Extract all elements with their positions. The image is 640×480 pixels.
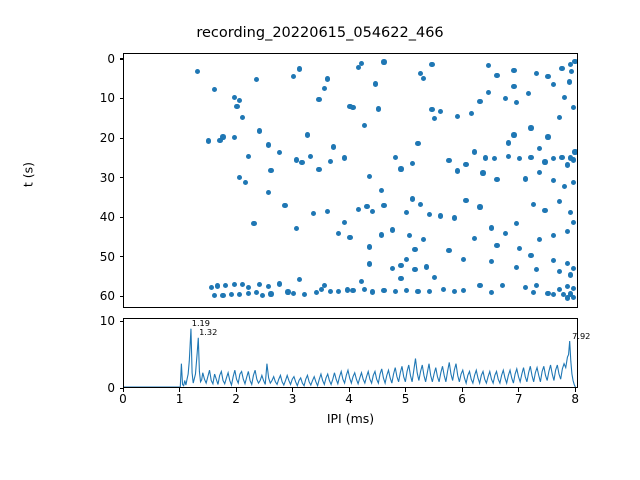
scatter-point [472, 149, 477, 154]
x-tick-mark [349, 388, 350, 392]
scatter-point [311, 211, 316, 216]
scatter-point [545, 74, 550, 79]
scatter-point [367, 244, 372, 249]
y-tick-label: 40 [77, 211, 115, 223]
scatter-point [390, 266, 395, 271]
scatter-point [412, 267, 417, 272]
scatter-point [432, 275, 437, 280]
scatter-plot-panel [123, 53, 578, 308]
x-tick-mark [179, 388, 180, 392]
scatter-point [534, 267, 539, 272]
scatter-point [565, 295, 570, 300]
scatter-point [314, 290, 319, 295]
hist-y-tick-label: 10 [77, 315, 115, 327]
scatter-point [494, 177, 499, 182]
scatter-point [322, 86, 327, 91]
scatter-point [557, 115, 562, 120]
scatter-point [557, 269, 562, 274]
scatter-point [308, 154, 313, 159]
scatter-point [562, 95, 567, 100]
scatter-point [297, 66, 302, 71]
scatter-point [350, 288, 355, 293]
y-tick-label: 30 [77, 172, 115, 184]
scatter-point [277, 281, 282, 286]
x-tick-label: 8 [562, 393, 588, 405]
scatter-point [291, 291, 296, 296]
scatter-point [528, 155, 533, 160]
histogram-trace [124, 319, 577, 387]
scatter-point [421, 237, 426, 242]
scatter-point [489, 225, 494, 230]
scatter-point [523, 176, 528, 181]
scatter-point [381, 288, 386, 293]
scatter-point [328, 159, 333, 164]
scatter-point [446, 248, 451, 253]
scatter-point [325, 209, 330, 214]
scatter-point [336, 289, 341, 294]
scatter-point [393, 155, 398, 160]
scatter-point [328, 289, 333, 294]
histogram-panel [123, 318, 578, 388]
scatter-point [234, 104, 239, 109]
scatter-point [342, 220, 347, 225]
scatter-point [483, 155, 488, 160]
scatter-point [438, 213, 443, 218]
scatter-point [537, 146, 542, 151]
scatter-point [294, 226, 299, 231]
scatter-point [571, 220, 576, 225]
scatter-point [232, 135, 237, 140]
scatter-point [370, 289, 375, 294]
scatter-point [557, 287, 562, 292]
scatter-point [511, 132, 516, 137]
scatter-point [427, 212, 432, 217]
scatter-point [251, 221, 256, 226]
scatter-point [410, 196, 415, 201]
x-tick-label: 0 [110, 393, 136, 405]
scatter-point [486, 63, 491, 68]
y-tick-label: 0 [77, 53, 115, 65]
x-axis-label: IPI (ms) [123, 411, 578, 426]
scatter-point [469, 111, 474, 116]
scatter-point [452, 215, 457, 220]
scatter-point [517, 246, 522, 251]
scatter-point [359, 279, 364, 284]
scatter-point [237, 292, 242, 297]
scatter-point [319, 287, 324, 292]
scatter-point [506, 154, 511, 159]
scatter-point [257, 128, 262, 133]
peak-annotation: 1.32 [199, 328, 217, 337]
scatter-point [376, 106, 381, 111]
scatter-point [446, 158, 451, 163]
scatter-point [441, 287, 446, 292]
scatter-point [206, 138, 211, 143]
scatter-point [463, 162, 468, 167]
scatter-point [282, 203, 287, 208]
scatter-point [542, 159, 547, 164]
scatter-point [557, 199, 562, 204]
scatter-point [254, 77, 259, 82]
scatter-point [551, 292, 556, 297]
scatter-point [398, 263, 403, 268]
scatter-point [528, 253, 533, 258]
scatter-point [240, 115, 245, 120]
scatter-point [571, 105, 576, 110]
scatter-point [565, 284, 570, 289]
scatter-point [455, 168, 460, 173]
scatter-point [511, 84, 516, 89]
scatter-point [503, 231, 508, 236]
scatter-point [260, 293, 265, 298]
matplotlib-figure: recording_20220615_054622_466 0102030405… [0, 0, 640, 480]
scatter-point [223, 283, 228, 288]
y-tick-label: 20 [77, 132, 115, 144]
scatter-point [571, 286, 576, 291]
scatter-point [316, 167, 321, 172]
scatter-point [568, 210, 573, 215]
scatter-point [571, 180, 576, 185]
scatter-point [212, 87, 217, 92]
peak-annotation: 7.92 [572, 332, 590, 341]
scatter-point [243, 180, 248, 185]
scatter-point [362, 287, 367, 292]
scatter-point [569, 69, 574, 74]
scatter-point [367, 174, 372, 179]
scatter-point [356, 65, 361, 70]
scatter-point [542, 208, 547, 213]
y-tick-mark [120, 58, 124, 59]
scatter-point [266, 284, 271, 289]
scatter-point [506, 140, 511, 145]
page-title: recording_20220615_054622_466 [0, 25, 640, 41]
scatter-point [418, 202, 423, 207]
scatter-point [246, 285, 251, 290]
scatter-point [381, 59, 386, 64]
scatter-point [331, 144, 336, 149]
scatter-point [381, 203, 386, 208]
x-tick-mark [462, 388, 463, 392]
scatter-point [429, 107, 434, 112]
scatter-point [393, 289, 398, 294]
x-tick-mark [518, 388, 519, 392]
scatter-point [316, 97, 321, 102]
scatter-point [246, 291, 251, 296]
scatter-point [551, 258, 556, 263]
scatter-point [472, 236, 477, 241]
scatter-point [421, 76, 426, 81]
scatter-point [237, 98, 242, 103]
scatter-point [511, 68, 516, 73]
scatter-point [461, 257, 466, 262]
scatter-point [390, 227, 395, 232]
x-tick-mark [575, 388, 576, 392]
scatter-point [294, 157, 299, 162]
scatter-point [452, 289, 457, 294]
x-tick-label: 1 [167, 393, 193, 405]
scatter-point [404, 210, 409, 215]
scatter-point [438, 109, 443, 114]
scatter-point [559, 66, 564, 71]
y-axis-label: t (s) [21, 135, 36, 215]
scatter-point [537, 237, 542, 242]
scatter-point [195, 69, 200, 74]
scatter-point [486, 90, 491, 95]
scatter-point [266, 142, 271, 147]
scatter-point [565, 229, 570, 234]
scatter-point [568, 272, 573, 277]
scatter-point [489, 290, 494, 295]
scatter-point [209, 285, 214, 290]
scatter-point [412, 247, 417, 252]
scatter-point [534, 71, 539, 76]
scatter-point [559, 155, 564, 160]
scatter-point [215, 283, 220, 288]
scatter-point [362, 123, 367, 128]
scatter-point [503, 96, 508, 101]
scatter-point [336, 231, 341, 236]
y-tick-mark [120, 256, 124, 257]
scatter-point [229, 292, 234, 297]
scatter-point [514, 265, 519, 270]
y-tick-mark [120, 98, 124, 99]
scatter-point [410, 161, 415, 166]
scatter-point [480, 170, 485, 175]
scatter-point [237, 175, 242, 180]
scatter-point [571, 295, 576, 300]
scatter-point [257, 282, 262, 287]
scatter-point [568, 62, 573, 67]
scatter-point [364, 204, 369, 209]
scatter-point [424, 264, 429, 269]
scatter-point [494, 73, 499, 78]
scatter-point [551, 178, 556, 183]
scatter-point [297, 277, 302, 282]
scatter-point [240, 282, 245, 287]
x-tick-label: 6 [449, 393, 475, 405]
x-tick-label: 7 [506, 393, 532, 405]
scatter-point [305, 132, 310, 137]
scatter-point [379, 232, 384, 237]
scatter-point [415, 141, 420, 146]
scatter-point [367, 261, 372, 266]
scatter-point [565, 162, 570, 167]
scatter-point [514, 100, 519, 105]
y-tick-mark [120, 177, 124, 178]
scatter-point [212, 293, 217, 298]
scatter-point [220, 293, 225, 298]
y-tick-label: 10 [77, 92, 115, 104]
scatter-point [429, 62, 434, 67]
scatter-point [526, 91, 531, 96]
scatter-point [432, 116, 437, 121]
scatter-point [572, 59, 577, 64]
scatter-point [531, 290, 536, 295]
scatter-point [455, 114, 460, 119]
x-tick-mark [236, 388, 237, 392]
scatter-point [531, 202, 536, 207]
scatter-point [415, 289, 420, 294]
x-tick-mark [405, 388, 406, 392]
scatter-point [266, 190, 271, 195]
scatter-point [345, 287, 350, 292]
y-tick-label: 60 [77, 290, 115, 302]
scatter-point [461, 288, 466, 293]
scatter-point [342, 155, 347, 160]
scatter-point [571, 266, 576, 271]
scatter-point [277, 150, 282, 155]
scatter-point [537, 170, 542, 175]
scatter-point [494, 243, 499, 248]
scatter-point [565, 261, 570, 266]
x-tick-label: 4 [336, 393, 362, 405]
scatter-point [545, 134, 550, 139]
scatter-point [232, 282, 237, 287]
scatter-point [551, 82, 556, 87]
x-tick-label: 5 [393, 393, 419, 405]
scatter-point [562, 184, 567, 189]
scatter-point [398, 276, 403, 281]
scatter-point [551, 156, 556, 161]
y-tick-mark [120, 217, 124, 218]
scatter-point [492, 156, 497, 161]
hist-y-tick-mark [120, 321, 124, 322]
scatter-point [254, 290, 259, 295]
x-tick-label: 2 [223, 393, 249, 405]
scatter-point [373, 81, 378, 86]
scatter-point [347, 104, 352, 109]
scatter-point [572, 149, 577, 154]
scatter-point [302, 292, 307, 297]
scatter-point [545, 291, 550, 296]
scatter-point [404, 288, 409, 293]
scatter-point [528, 125, 533, 130]
y-tick-mark [120, 296, 124, 297]
x-tick-label: 3 [280, 393, 306, 405]
scatter-point [534, 283, 539, 288]
scatter-point [325, 76, 330, 81]
scatter-point [217, 138, 222, 143]
scatter-point [398, 166, 403, 171]
scatter-point [477, 204, 482, 209]
scatter-point [268, 168, 273, 173]
scatter-point [347, 235, 352, 240]
scatter-point [404, 257, 409, 262]
scatter-point [356, 207, 361, 212]
scatter-point [571, 157, 576, 162]
scatter-point [427, 289, 432, 294]
x-tick-mark [123, 388, 124, 392]
scatter-point [477, 283, 482, 288]
scatter-point [463, 198, 468, 203]
y-tick-label: 50 [77, 251, 115, 263]
scatter-point [489, 259, 494, 264]
y-tick-mark [120, 138, 124, 139]
scatter-point [551, 233, 556, 238]
scatter-point [232, 95, 237, 100]
scatter-point [268, 291, 273, 296]
scatter-point [567, 79, 572, 84]
scatter-point [407, 233, 412, 238]
scatter-point [299, 160, 304, 165]
scatter-point [379, 188, 384, 193]
scatter-point [500, 283, 505, 288]
scatter-point [517, 156, 522, 161]
scatter-point [523, 285, 528, 290]
scatter-point [370, 209, 375, 214]
scatter-point [246, 154, 251, 159]
scatter-point [477, 99, 482, 104]
x-tick-mark [292, 388, 293, 392]
scatter-point [291, 74, 296, 79]
scatter-point [514, 221, 519, 226]
scatter-point [285, 289, 290, 294]
